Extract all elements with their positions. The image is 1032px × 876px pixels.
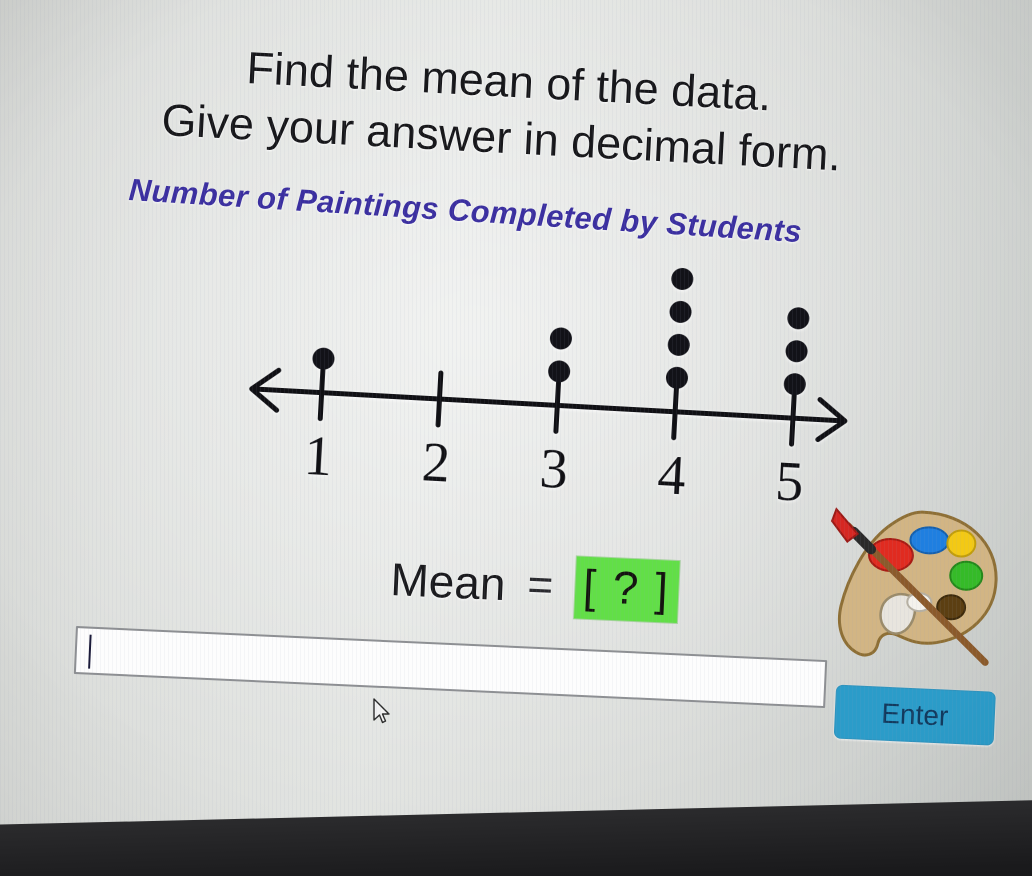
axis-tick-label-5: 5 — [774, 450, 805, 513]
dot-4-1 — [665, 366, 688, 389]
dot-5-1 — [783, 373, 806, 396]
dot-5-3 — [787, 307, 810, 330]
dot-plot-svg: 12345 — [225, 236, 879, 540]
axis-tick-3 — [556, 379, 559, 431]
equals-sign: = — [526, 560, 554, 611]
brush-tip — [831, 509, 858, 542]
axis-labels-group: 12345 — [303, 425, 806, 514]
dot-3-2 — [549, 327, 572, 350]
dot-stacks-group — [312, 248, 812, 396]
dot-plot: 12345 — [225, 236, 879, 540]
dot-4-2 — [667, 333, 690, 356]
screen-photo: Find the mean of the data. Give your ans… — [0, 0, 1032, 876]
palette-blob-green — [950, 561, 983, 590]
enter-button[interactable]: Enter — [834, 685, 996, 746]
axis-tick-5 — [792, 392, 795, 444]
axis-tick-label-1: 1 — [303, 425, 334, 488]
dot-3-1 — [548, 360, 571, 383]
dot-5-2 — [785, 340, 808, 363]
answer-placeholder-box: [ ? ] — [574, 556, 679, 623]
palette-blob-blue — [910, 527, 949, 554]
dot-1-1 — [312, 347, 335, 370]
mean-label: Mean — [389, 552, 506, 611]
axis-tick-1 — [320, 367, 323, 419]
answer-input[interactable] — [74, 626, 827, 708]
dot-plot-title: Number of Paintings Completed by Student… — [128, 172, 803, 250]
mean-expression-row: Mean = [ ? ] — [389, 548, 679, 623]
paint-palette-icon — [821, 493, 1013, 669]
axis-tick-2 — [438, 373, 441, 425]
palette-blob-yellow — [947, 530, 976, 557]
axis-tick-label-4: 4 — [656, 444, 687, 507]
quiz-content: Find the mean of the data. Give your ans… — [0, 0, 1032, 876]
dot-4-3 — [669, 300, 692, 323]
axis-tick-4 — [674, 386, 677, 438]
dot-4-4 — [671, 267, 694, 290]
axis-tick-label-3: 3 — [538, 438, 569, 501]
axis-tick-label-2: 2 — [420, 431, 451, 494]
axis-line — [254, 389, 843, 421]
